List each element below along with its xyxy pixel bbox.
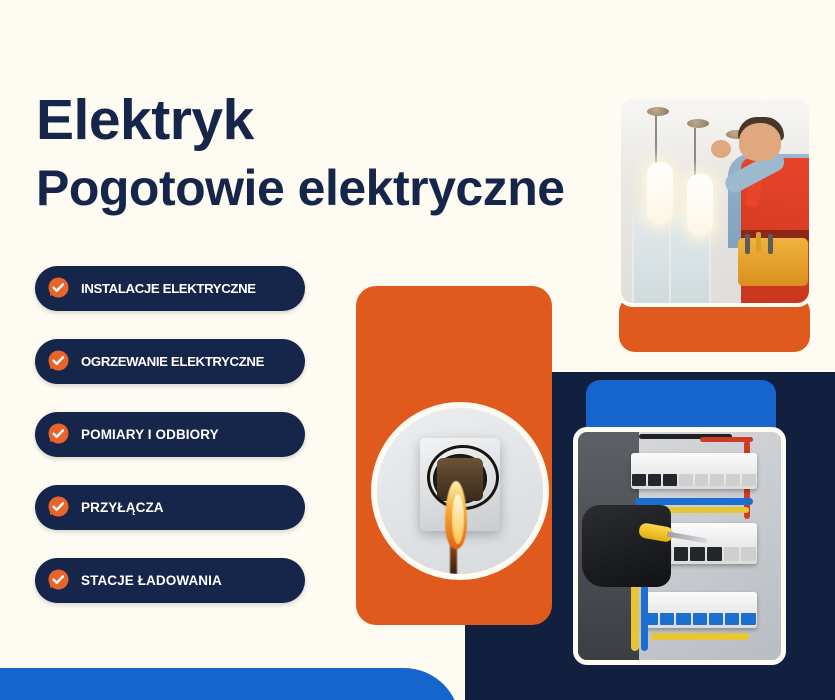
- service-badge-instalacje-elektryczne[interactable]: INSTALACJE ELEKTRYCZNE: [35, 266, 305, 311]
- service-badge-przylacza[interactable]: PRZYŁĄCZA: [35, 485, 305, 530]
- service-badge-label: PRZYŁĄCZA: [81, 500, 164, 515]
- service-badge-ogrzewanie-elektryczne[interactable]: OGRZEWANIE ELEKTRYCZNE: [35, 339, 305, 384]
- check-circle-icon: [46, 568, 71, 593]
- service-badge-label: POMIARY I ODBIORY: [81, 427, 219, 442]
- services-list: INSTALACJE ELEKTRYCZNE OGRZEWANIE ELEKTR…: [35, 266, 305, 603]
- page-title: Elektryk Pogotowie elektryczne: [36, 92, 565, 213]
- check-circle-icon: [46, 349, 71, 374]
- service-badge-label: STACJE ŁADOWANIA: [81, 573, 222, 588]
- check-circle-icon: [46, 495, 71, 520]
- headline-line-1: Elektryk: [36, 92, 565, 149]
- photo-electrician-installing-pendant-lamps: [617, 95, 813, 307]
- photo-hand-with-screwdriver-on-breaker-panel: [573, 427, 786, 665]
- blue-bottom-sweep: [0, 668, 460, 700]
- photo-burning-electrical-socket: [371, 402, 549, 580]
- headline-line-2: Pogotowie elektryczne: [36, 163, 565, 213]
- poster-canvas: Elektryk Pogotowie elektryczne INSTALACJ…: [0, 0, 835, 700]
- check-circle-icon: [46, 276, 71, 301]
- service-badge-label: INSTALACJE ELEKTRYCZNE: [81, 281, 256, 296]
- service-badge-label: OGRZEWANIE ELEKTRYCZNE: [81, 354, 264, 369]
- service-badge-pomiary-i-odbiory[interactable]: POMIARY I ODBIORY: [35, 412, 305, 457]
- check-circle-icon: [46, 422, 71, 447]
- service-badge-stacje-ladowania[interactable]: STACJE ŁADOWANIA: [35, 558, 305, 603]
